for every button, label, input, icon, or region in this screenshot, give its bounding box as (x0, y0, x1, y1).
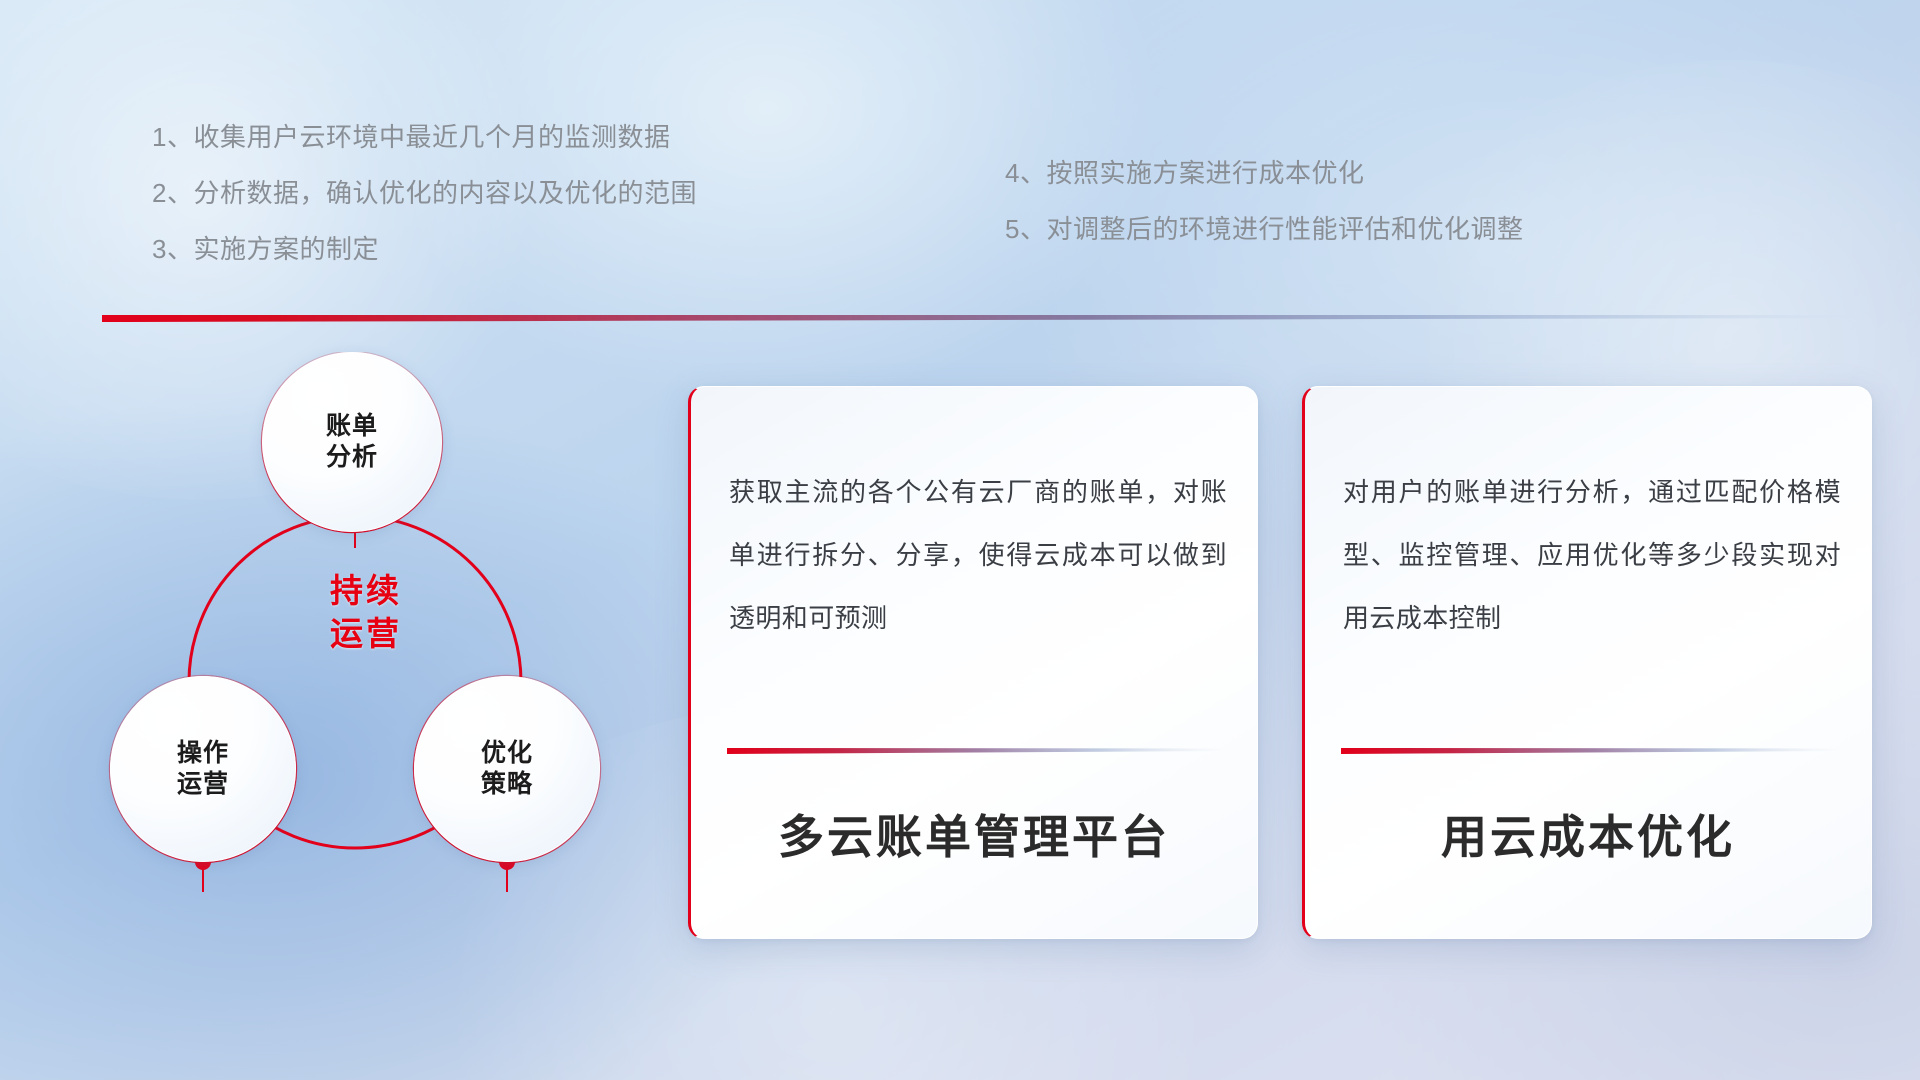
card-body-text: 对用户的账单进行分析，通过匹配价格模型、监控管理、应用优化等多少段实现对用云成本… (1343, 461, 1841, 650)
venn-node-optimization-strategy[interactable]: 优化 策略 (414, 676, 600, 862)
venn-node-billing-analysis[interactable]: 账单 分析 (262, 352, 442, 532)
step-item: 1、收集用户云环境中最近几个月的监测数据 (152, 124, 697, 150)
venn-center-line2: 运营 (96, 613, 636, 656)
card-divider (727, 747, 1229, 755)
section-divider (102, 313, 1864, 323)
venn-center-label: 持续 运营 (96, 570, 636, 656)
step-item: 4、按照实施方案进行成本优化 (1005, 160, 1523, 186)
venn-node-line1: 操作 (177, 738, 229, 770)
slide-canvas: 1、收集用户云环境中最近几个月的监测数据 2、分析数据，确认优化的内容以及优化的… (0, 0, 1920, 1080)
venn-node-line2: 分析 (326, 442, 378, 474)
venn-node-operations[interactable]: 操作 运营 (110, 676, 296, 862)
step-item: 5、对调整后的环境进行性能评估和优化调整 (1005, 216, 1523, 242)
venn-node-line1: 账单 (326, 411, 378, 443)
venn-center-line1: 持续 (330, 572, 402, 609)
venn-node-line1: 优化 (481, 738, 533, 770)
step-item: 3、实施方案的制定 (152, 236, 697, 262)
card-title: 用云成本优化 (1305, 801, 1871, 867)
venn-node-line2: 运营 (177, 769, 229, 801)
steps-list-right: 4、按照实施方案进行成本优化 5、对调整后的环境进行性能评估和优化调整 (1005, 160, 1523, 242)
feature-card-cloud-cost-optimization[interactable]: 对用户的账单进行分析，通过匹配价格模型、监控管理、应用优化等多少段实现对用云成本… (1302, 386, 1872, 939)
feature-card-multicloud-billing[interactable]: 获取主流的各个公有云厂商的账单，对账单进行拆分、分享，使得云成本可以做到透明和可… (688, 386, 1258, 939)
venn-diagram: 账单 分析 操作 运营 优化 策略 持续 运营 (96, 352, 636, 952)
card-body-text: 获取主流的各个公有云厂商的账单，对账单进行拆分、分享，使得云成本可以做到透明和可… (729, 461, 1227, 650)
steps-list-left: 1、收集用户云环境中最近几个月的监测数据 2、分析数据，确认优化的内容以及优化的… (152, 124, 697, 262)
card-title: 多云账单管理平台 (691, 801, 1257, 867)
card-divider (1341, 747, 1843, 755)
venn-node-line2: 策略 (481, 769, 533, 801)
step-item: 2、分析数据，确认优化的内容以及优化的范围 (152, 180, 697, 206)
